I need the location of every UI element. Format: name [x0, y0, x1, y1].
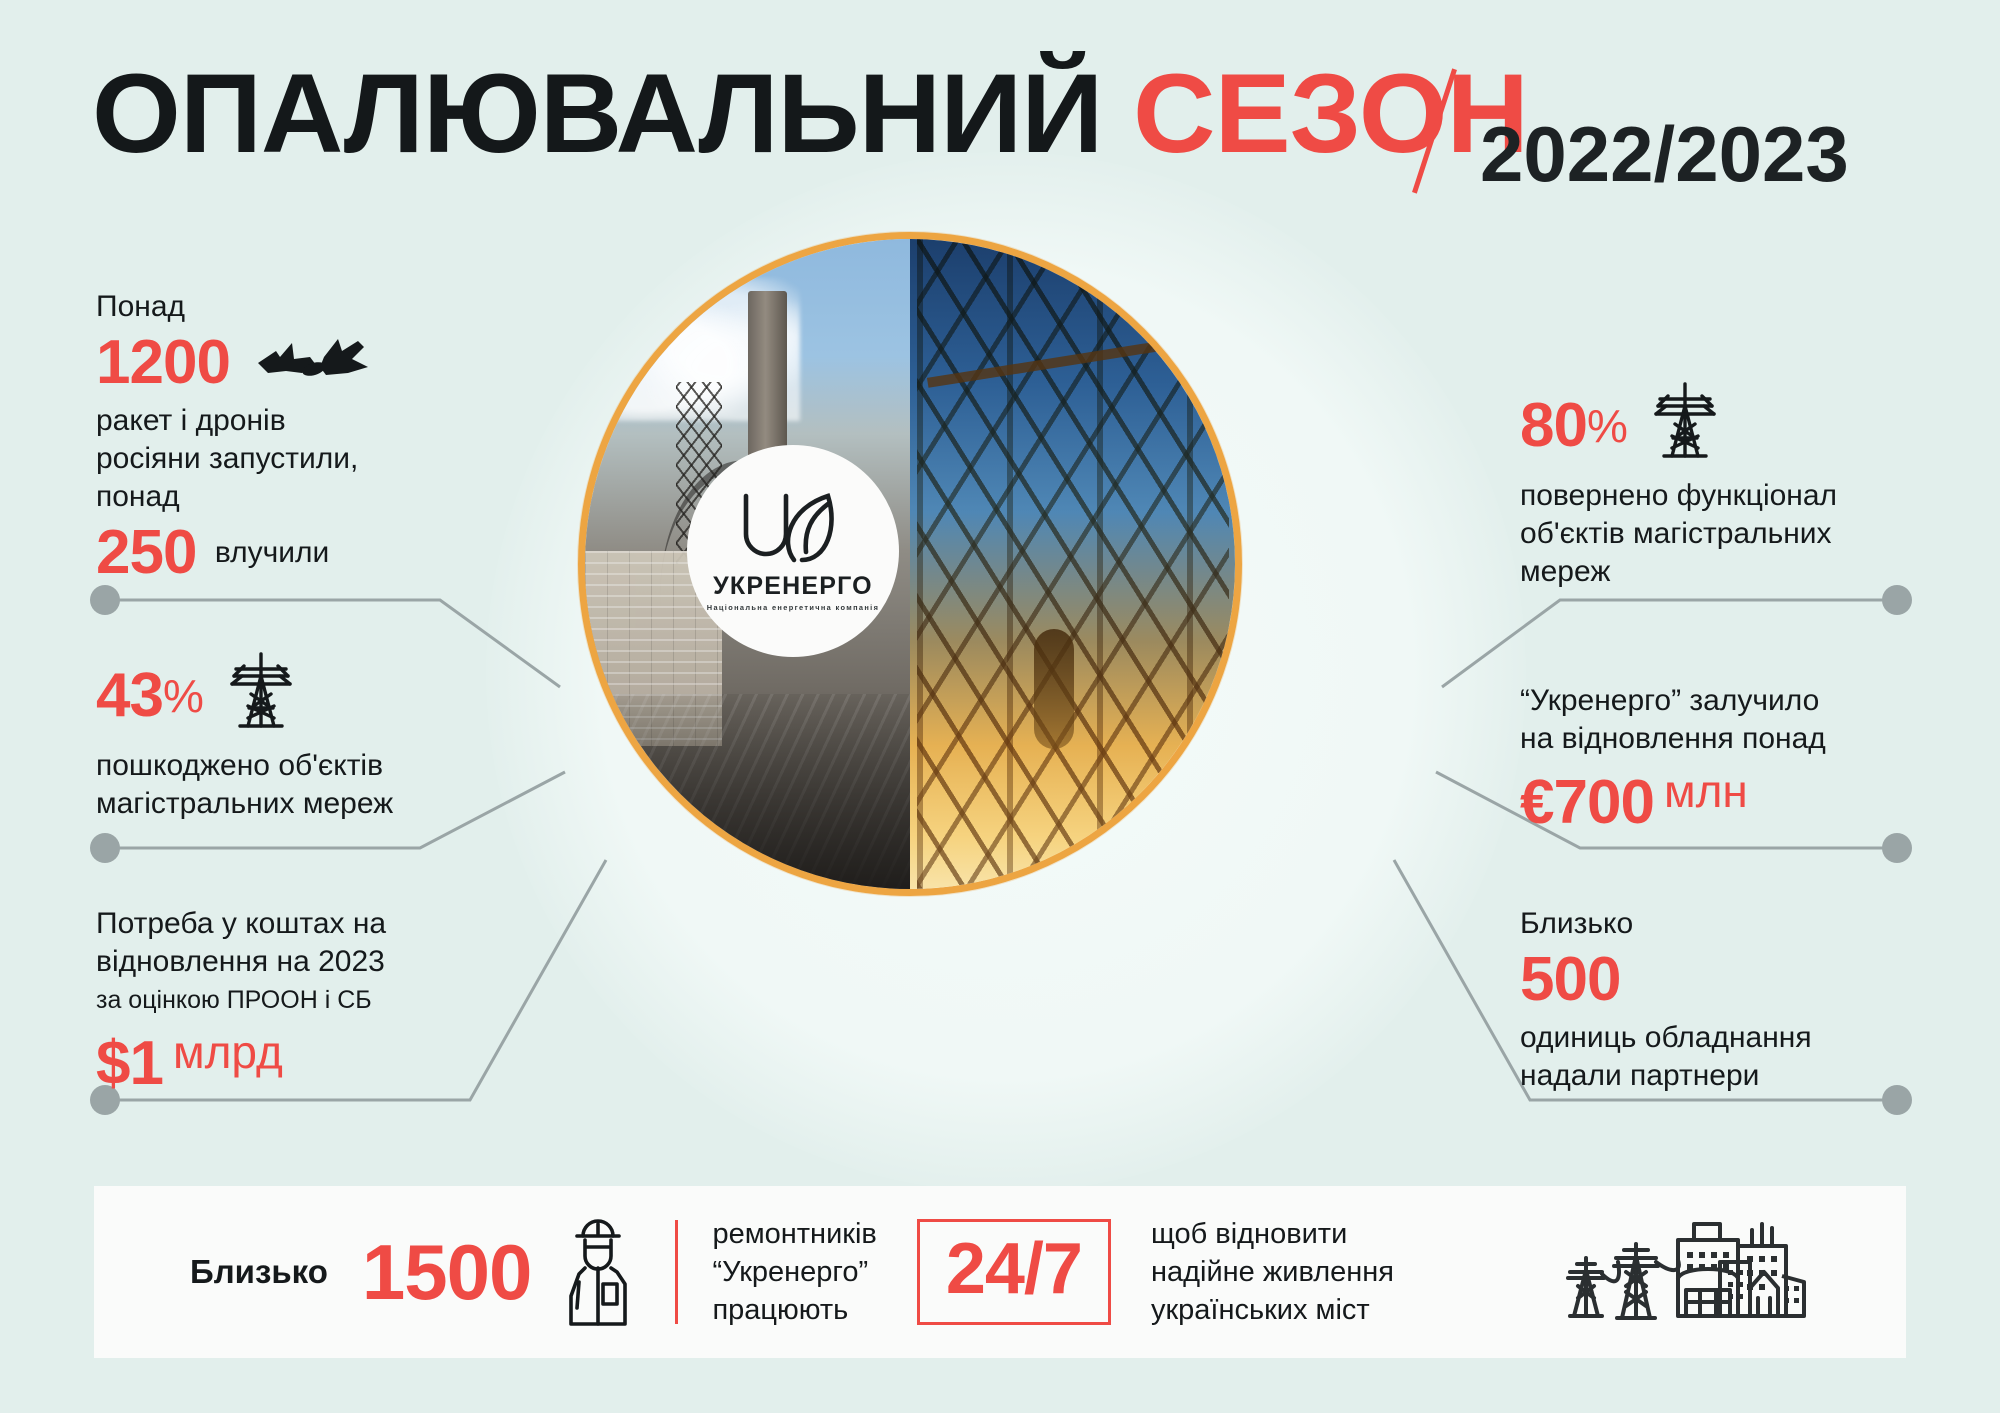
ukrenergo-logo: УКРЕНЕРГО Національна енергетична компан…	[687, 445, 899, 657]
photo-transmission-tower	[910, 239, 1235, 889]
stat-missiles-lead: Понад	[96, 288, 526, 326]
bottom-worker-text: ремонтників “Укренерго” працюють	[712, 1215, 876, 1329]
power-tower-icon	[1646, 380, 1724, 471]
connector-dot	[90, 585, 120, 615]
stat-raised-desc-top: “Укренерго” залучило на відновлення пона…	[1520, 682, 1970, 758]
stat-funding-unit: млрд	[173, 1025, 283, 1079]
stat-equipment: Близько 500 одиниць обладнання надали па…	[1520, 905, 1970, 1095]
stat-funding-desc-top: Потреба у коштах на відновлення на 2023	[96, 905, 536, 981]
stat-missiles-value: 1200	[96, 328, 230, 398]
page-title: ОПАЛЮВАЛЬНИЙ СЕЗОН	[92, 58, 1528, 170]
bottom-summary-bar: Близько 1500 ремонтників “Укренерго” пра…	[94, 1186, 1906, 1358]
stat-missiles-value2-suffix: влучили	[215, 536, 329, 570]
stat-restored-desc: повернено функціонал об'єктів магістраль…	[1520, 477, 1940, 591]
bottom-pre-label: Близько	[190, 1253, 328, 1291]
central-photo-circle	[578, 232, 1242, 896]
bottom-divider	[675, 1220, 678, 1324]
stat-raised-value: €700	[1520, 768, 1654, 838]
stat-damaged-value: 43	[96, 661, 163, 731]
season-year: 2022/2023	[1480, 115, 1849, 193]
infographic-poster: ОПАЛЮВАЛЬНИЙ СЕЗОН 2022/2023	[0, 0, 2000, 1413]
missile-drone-icon	[252, 333, 372, 394]
stat-restored-unit: %	[1587, 391, 1628, 461]
connector-dot	[90, 833, 120, 863]
power-tower-icon	[222, 650, 300, 741]
stat-damaged-unit: %	[163, 661, 204, 731]
stat-restored: 80%	[1520, 380, 1940, 591]
stat-equipment-value: 500	[1520, 945, 1620, 1015]
stat-damaged: 43%	[96, 650, 536, 823]
stat-funding-desc-small: за оцінкою ПРООН і СБ	[96, 983, 536, 1017]
stat-missiles-desc: ракет і дронів росіяни запустили, понад	[96, 402, 526, 516]
stat-raised: “Укренерго” залучило на відновлення пона…	[1520, 682, 1970, 838]
header: ОПАЛЮВАЛЬНИЙ СЕЗОН 2022/2023	[0, 0, 2000, 230]
title-part1: ОПАЛЮВАЛЬНИЙ	[92, 51, 1102, 176]
stat-raised-unit: млн	[1664, 764, 1748, 818]
stat-equipment-desc: одиниць обладнання надали партнери	[1520, 1019, 1970, 1095]
bottom-goal-text: щоб відновити надійне живлення українськ…	[1151, 1215, 1394, 1329]
stat-restored-value: 80	[1520, 391, 1587, 461]
stat-damaged-desc: пошкоджено об'єктів магістральних мереж	[96, 747, 536, 823]
bottom-247-badge: 24/7	[917, 1219, 1111, 1325]
stat-funding-need: Потреба у коштах на відновлення на 2023 …	[96, 905, 536, 1099]
logo-tagline: Національна енергетична компанія	[707, 604, 879, 611]
stat-missiles-value2: 250	[96, 518, 196, 588]
stat-funding-value: $1	[96, 1029, 163, 1099]
city-powerlines-icon	[1560, 1210, 1810, 1335]
stat-equipment-lead: Близько	[1520, 905, 1970, 943]
bottom-worker-count: 1500	[362, 1233, 532, 1311]
title-part2: СЕЗОН	[1133, 51, 1528, 176]
repair-worker-icon	[555, 1210, 641, 1335]
ukrenergo-mark-icon	[732, 490, 854, 566]
stat-missiles: Понад 1200 ракет і дронів росіяни запуст…	[96, 288, 526, 588]
logo-wordmark: УКРЕНЕРГО	[713, 574, 873, 599]
